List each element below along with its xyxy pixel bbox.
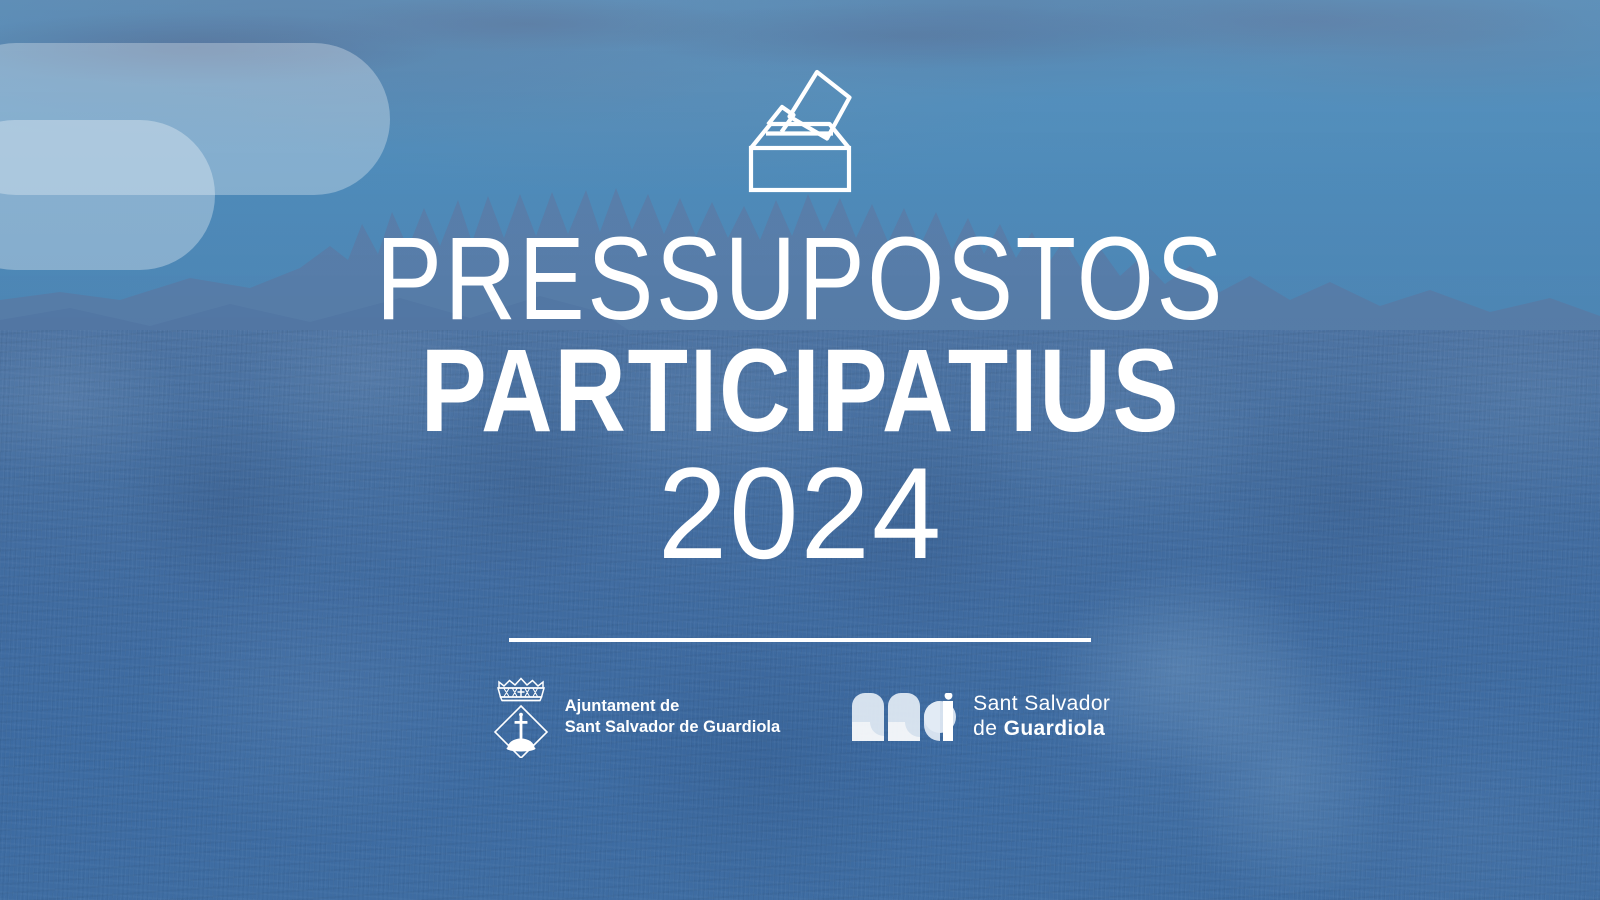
ajuntament-text-block: Ajuntament de Sant Salvador de Guardiola bbox=[565, 696, 780, 738]
logo-ssg: Sant Salvador de Guardiola bbox=[852, 692, 1110, 742]
ssg-line1: Sant Salvador bbox=[973, 692, 1110, 717]
ssg-line2-bold: Guardiola bbox=[1004, 717, 1106, 740]
horizontal-divider bbox=[509, 638, 1091, 642]
ssg-monogram-icon bbox=[852, 693, 960, 741]
poster-content: PRESSUPOSTOS PARTICIPATIUS 2024 bbox=[0, 0, 1600, 900]
ssg-line2-prefix: de bbox=[973, 717, 1003, 740]
title-line-participatius: PARTICIPATIUS bbox=[375, 332, 1224, 450]
title-year: 2024 bbox=[315, 448, 1285, 578]
poster-canvas: PRESSUPOSTOS PARTICIPATIUS 2024 bbox=[0, 0, 1600, 900]
crown-and-diamond-crest-icon bbox=[490, 676, 552, 758]
ajuntament-line2: Sant Salvador de Guardiola bbox=[565, 717, 780, 738]
ssg-text-block: Sant Salvador de Guardiola bbox=[973, 692, 1110, 742]
ssg-line2: de Guardiola bbox=[973, 717, 1110, 742]
ballot-box-icon bbox=[741, 62, 859, 194]
ajuntament-line1: Ajuntament de bbox=[565, 696, 780, 717]
title-block: PRESSUPOSTOS PARTICIPATIUS 2024 bbox=[295, 220, 1306, 578]
logo-ajuntament: Ajuntament de Sant Salvador de Guardiola bbox=[490, 676, 780, 758]
title-line-pressupostos: PRESSUPOSTOS bbox=[375, 220, 1224, 338]
logo-row: Ajuntament de Sant Salvador de Guardiola bbox=[490, 676, 1111, 758]
